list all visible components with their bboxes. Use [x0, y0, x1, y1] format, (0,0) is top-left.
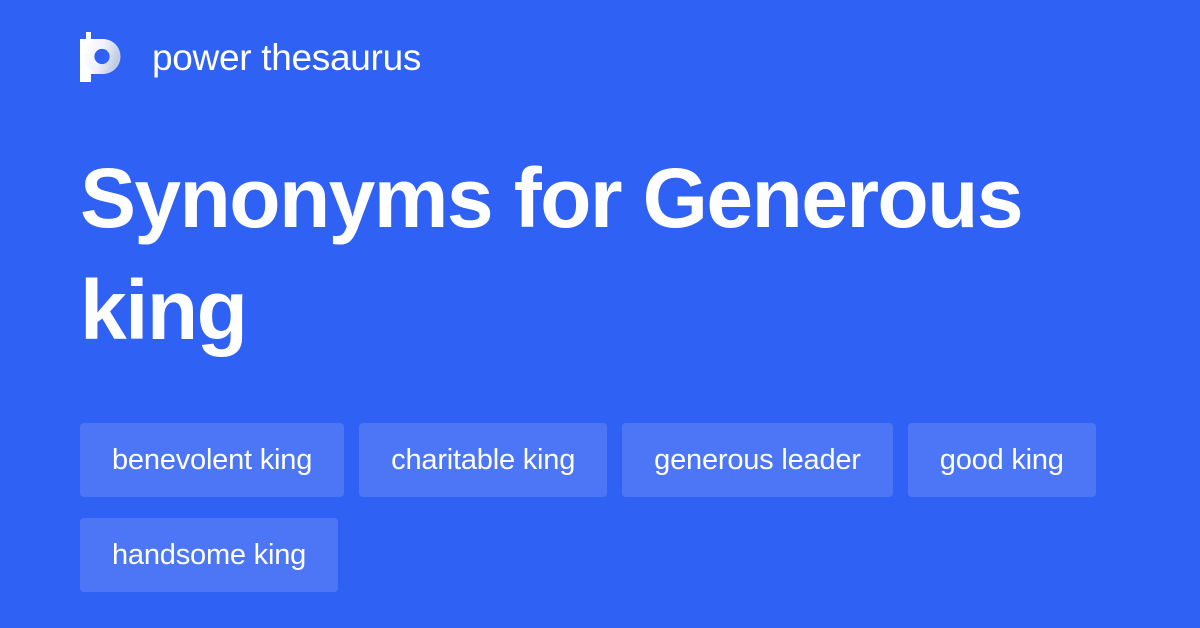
share-card: power thesaurus Synonyms for Generous ki…: [0, 0, 1200, 628]
synonym-chip-list: benevolent king charitable king generous…: [80, 423, 1120, 592]
synonym-chip[interactable]: generous leader: [622, 423, 893, 497]
power-thesaurus-b-logo-icon: [80, 32, 128, 82]
synonym-chip[interactable]: handsome king: [80, 518, 338, 592]
synonym-chip[interactable]: charitable king: [359, 423, 607, 497]
synonym-chip[interactable]: benevolent king: [80, 423, 344, 497]
brand-header[interactable]: power thesaurus: [80, 30, 421, 84]
brand-name: power thesaurus: [152, 39, 421, 76]
synonym-chip[interactable]: good king: [908, 423, 1096, 497]
page-title: Synonyms for Generous king: [80, 142, 1080, 366]
